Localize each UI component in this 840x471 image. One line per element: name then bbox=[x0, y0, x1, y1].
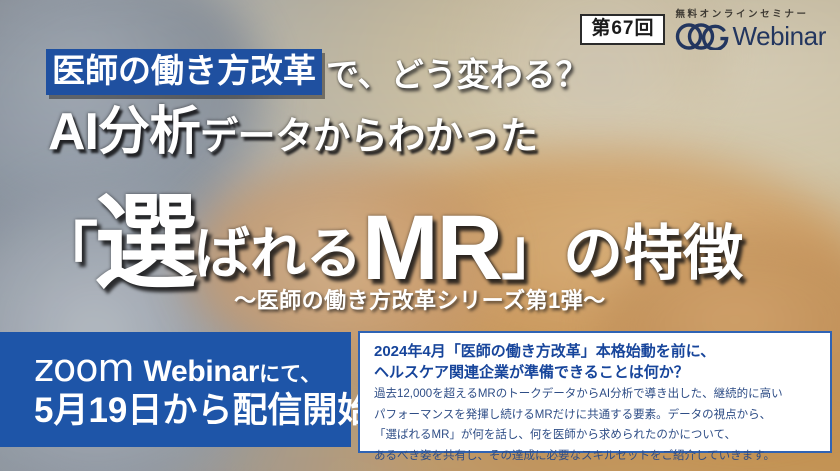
zoom-broadcast-banner: zoom Webinar にて、 5月19日から配信開始 bbox=[0, 332, 351, 447]
headline-erabu-char: 選 bbox=[94, 192, 198, 296]
zoom-webinar-label: Webinar bbox=[143, 357, 259, 387]
headline-line-2-rest: データからわかった bbox=[200, 118, 538, 158]
description-body-line-2: パフォーマンスを発揮し続けるMRだけに共通する要素。データの視点から、 bbox=[374, 407, 818, 424]
logo-main-row: Webinar bbox=[675, 23, 826, 50]
description-heading-line-1: 2024年4月「医師の働き方改革」本格始動を前に、 bbox=[374, 342, 818, 363]
description-body-line-1: 過去12,000を超えるMRのトークデータからAI分析で導き出した、継続的に高い bbox=[374, 386, 818, 403]
headline-mr: MR bbox=[362, 202, 501, 294]
headline-bareru: ばれる bbox=[194, 226, 362, 290]
description-heading-line-2: ヘルスケア関連企業が準備できることは何か？ bbox=[374, 363, 818, 384]
description-body-line-3: 「選ばれるMR」が何を話し、何を医師から求められたのかについて、 bbox=[374, 427, 818, 444]
headline-line-2: AI分析 データからわかった bbox=[48, 106, 538, 158]
logo-tagline: 無料オンラインセミナー bbox=[675, 10, 808, 20]
issue-number-badge: 第67回 bbox=[580, 14, 665, 45]
webinar-promo-banner: 第67回 無料オンラインセミナー Webinar 医師の働き方改革 で、どう変わ… bbox=[0, 0, 840, 471]
broadcast-start-date: 5月19日から配信開始 bbox=[34, 391, 351, 430]
ccg-webinar-logo: 無料オンラインセミナー Webinar bbox=[675, 10, 826, 50]
description-panel: 2024年4月「医師の働き方改革」本格始動を前に、 ヘルスケア関連企業が準備でき… bbox=[358, 331, 832, 453]
description-body-line-4: あるべき姿を共有し、その達成に必要なスキルセットをご紹介していきます。 bbox=[374, 448, 818, 465]
ccg-circles-icon bbox=[675, 23, 731, 50]
zoom-banner-row-1: zoom Webinar にて、 bbox=[34, 349, 351, 387]
headline-highlight-phrase: 医師の働き方改革 bbox=[46, 49, 322, 95]
headline-subtitle: 〜医師の働き方改革シリーズ第1弾〜 bbox=[0, 283, 840, 315]
headline-bracket-open: 「 bbox=[36, 222, 98, 290]
headline-line-1: 医師の働き方改革 で、どう変わる？ bbox=[46, 48, 589, 96]
zoom-nite-suffix: にて、 bbox=[259, 364, 321, 385]
logo-wordmark: Webinar bbox=[732, 23, 826, 49]
headline-line-1-rest: で、どう変わる？ bbox=[322, 48, 589, 96]
headline-line-3: 「 選 ばれる MR 」 の特徴 bbox=[36, 186, 743, 290]
headline-tokuchou: の特徴 bbox=[563, 224, 743, 290]
headline-ai-analysis: AI分析 bbox=[48, 106, 200, 158]
zoom-logo-text: zoom bbox=[34, 349, 133, 387]
header-brand-area: 第67回 無料オンラインセミナー Webinar bbox=[580, 10, 826, 50]
headline-bracket-close: 」 bbox=[501, 222, 563, 290]
